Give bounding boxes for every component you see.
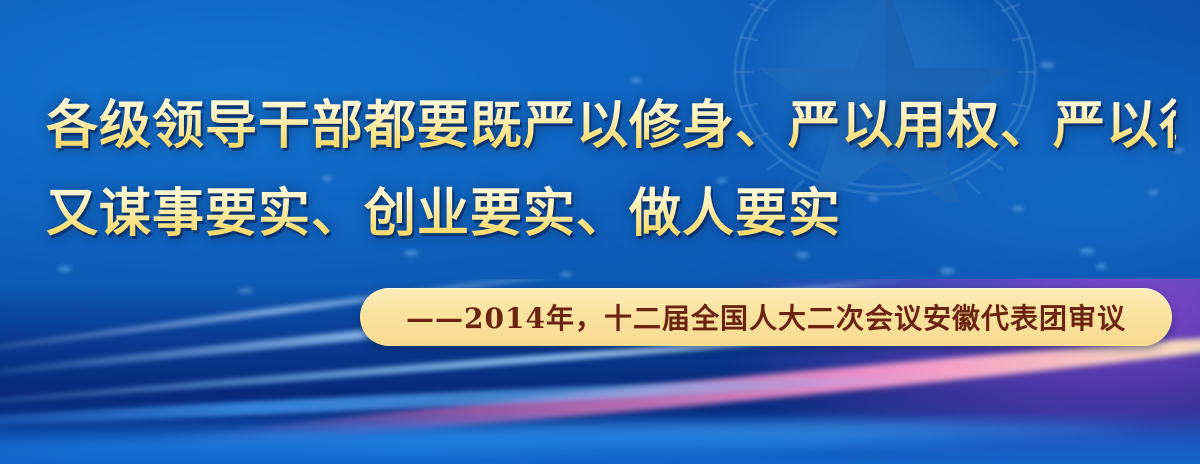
headline-block: 各级领导干部都要既严以修身、严以用权、严以律己， 又谋事要实、创业要实、做人要实 xyxy=(46,82,1176,258)
headline-line-1: 各级领导干部都要既严以修身、严以用权、严以律己， xyxy=(46,82,1176,170)
propaganda-banner: 各级领导干部都要既严以修身、严以用权、严以律己， 又谋事要实、创业要实、做人要实… xyxy=(0,0,1200,464)
attribution-pill: ——2014年，十二届全国人大二次会议安徽代表团审议 xyxy=(360,288,1172,346)
attribution-text: ——2014年，十二届全国人大二次会议安徽代表团审议 xyxy=(406,297,1126,337)
headline-line-2: 又谋事要实、创业要实、做人要实 xyxy=(46,170,1176,258)
